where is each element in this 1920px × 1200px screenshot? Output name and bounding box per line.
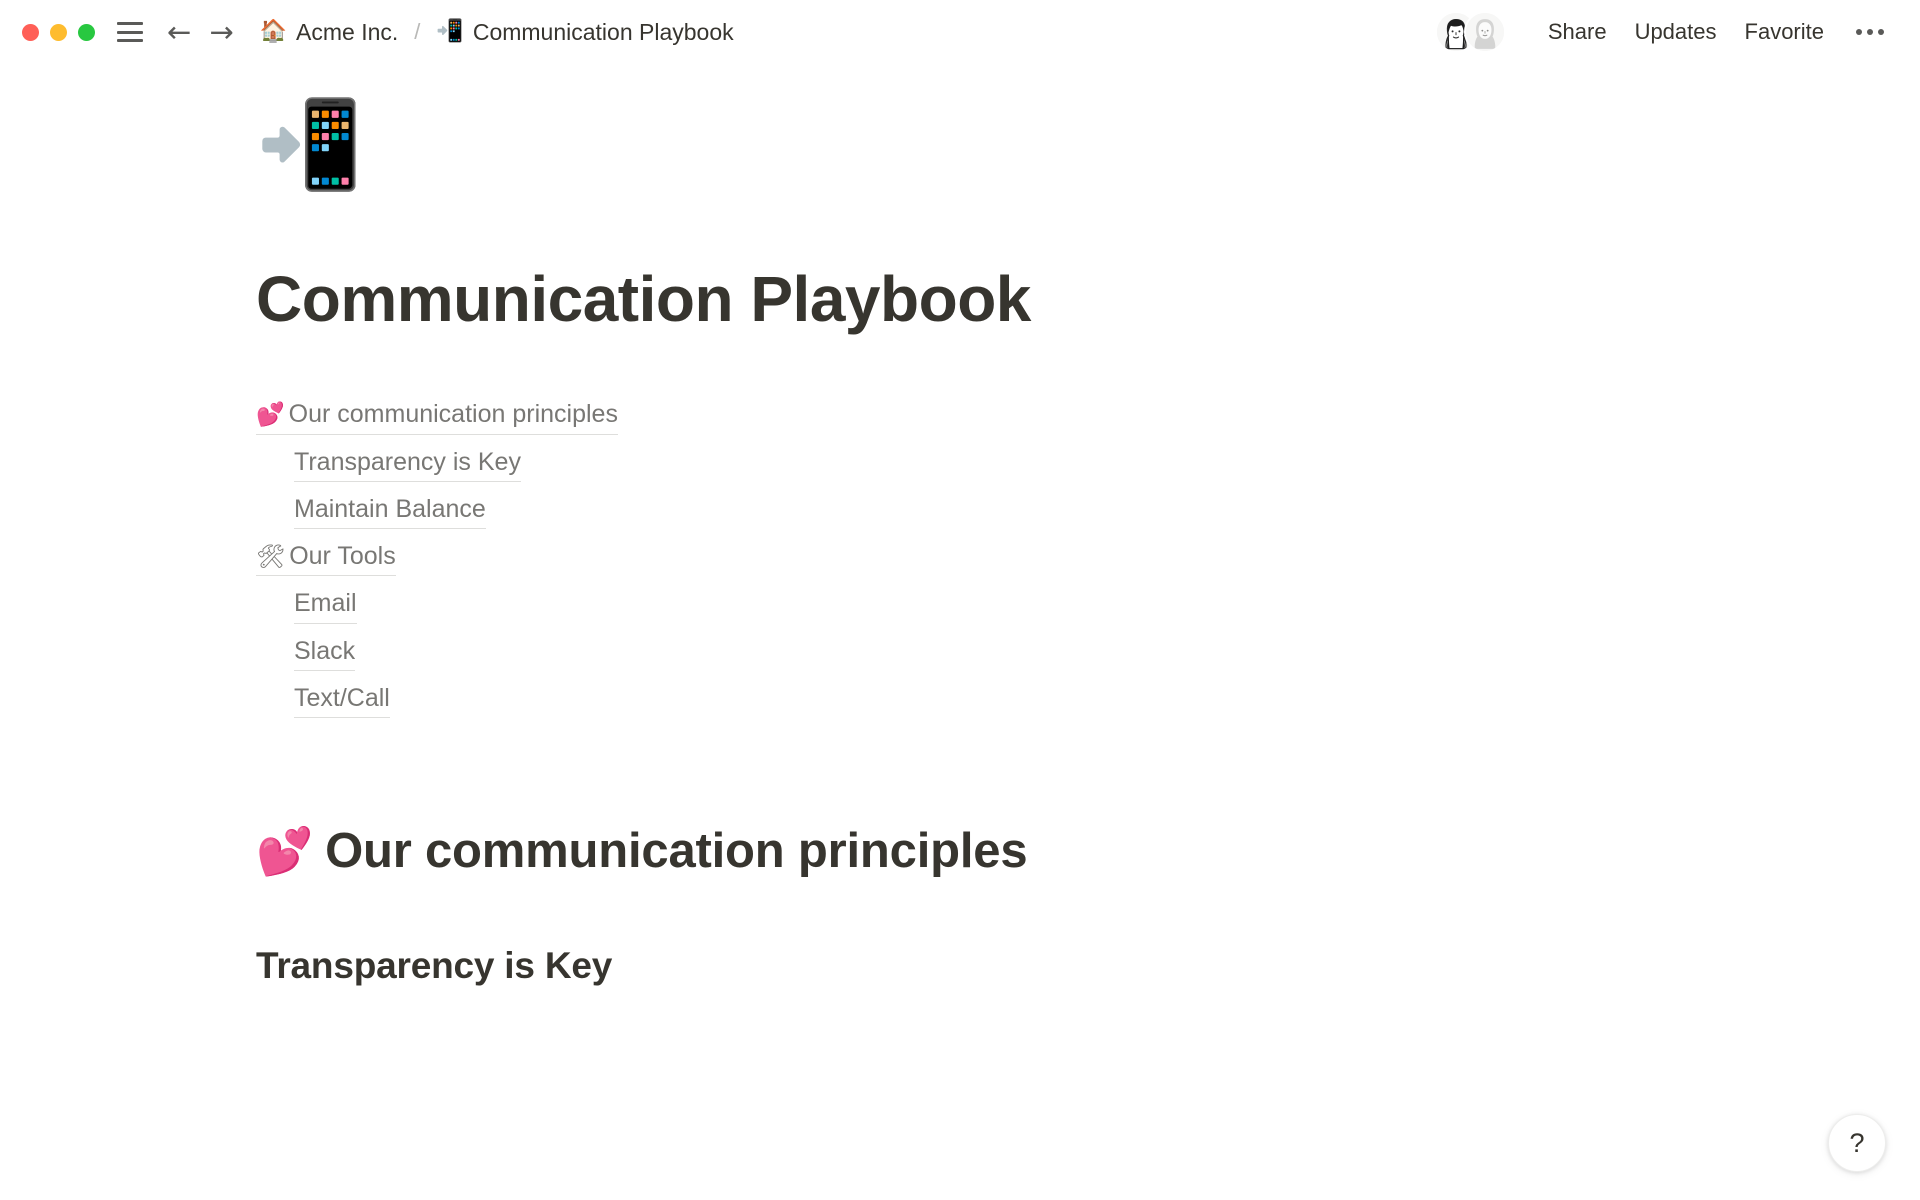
- window-controls: [22, 24, 95, 41]
- toc-label: Transparency is Key: [294, 448, 521, 476]
- breadcrumb: 🏠 Acme Inc. / 📲 Communication Playbook: [256, 17, 738, 48]
- page-title[interactable]: Communication Playbook: [256, 264, 1656, 334]
- breadcrumb-label-workspace: Acme Inc.: [296, 19, 398, 46]
- avatar[interactable]: [1464, 11, 1506, 53]
- breadcrumb-item-page[interactable]: 📲 Communication Playbook: [432, 17, 737, 48]
- toc-link-our-tools[interactable]: 🛠Our Tools: [256, 534, 396, 581]
- two-hearts-icon: 💕: [256, 402, 285, 428]
- hammer-and-wrench-icon: 🛠: [256, 544, 285, 570]
- favorite-button[interactable]: Favorite: [1731, 12, 1838, 52]
- forward-arrow-icon[interactable]: →: [209, 18, 233, 47]
- updates-button[interactable]: Updates: [1621, 12, 1731, 52]
- heading-text: Our communication principles: [325, 824, 1027, 878]
- toc-link-slack[interactable]: Slack: [294, 629, 355, 676]
- more-options-icon[interactable]: [1838, 19, 1896, 45]
- toc-link-transparency-is-key[interactable]: Transparency is Key: [294, 440, 521, 487]
- toc-link-email[interactable]: Email: [294, 581, 357, 628]
- toc-label: Email: [294, 589, 357, 617]
- toc-link-our-communication-principles[interactable]: 💕Our communication principles: [256, 392, 618, 439]
- heading-text: Transparency is Key: [256, 945, 612, 986]
- back-arrow-icon[interactable]: ←: [167, 18, 191, 47]
- page-icon-mobile-phone-with-arrow[interactable]: 📲: [256, 102, 1656, 212]
- table-of-contents: 💕Our communication principles Transparen…: [256, 392, 1656, 723]
- toc-label: Slack: [294, 637, 355, 665]
- content-column: 📲 Communication Playbook 💕Our communicat…: [256, 64, 1656, 987]
- toc-label: Text/Call: [294, 684, 390, 712]
- toc-label: Our Tools: [289, 542, 396, 570]
- toc-label: Our communication principles: [289, 400, 618, 428]
- mobile-phone-with-arrow-icon: 📲: [436, 21, 463, 43]
- breadcrumb-label-page: Communication Playbook: [473, 19, 734, 46]
- window-close-button[interactable]: [22, 24, 39, 41]
- share-button[interactable]: Share: [1534, 12, 1621, 52]
- window-minimize-button[interactable]: [50, 24, 67, 41]
- avatar-stack[interactable]: [1435, 11, 1506, 53]
- topbar: ← → 🏠 Acme Inc. / 📲 Communication Playbo…: [0, 0, 1920, 64]
- help-button[interactable]: ?: [1828, 1114, 1886, 1172]
- heading-our-communication-principles[interactable]: 💕Our communication principles: [256, 823, 1656, 879]
- toc-link-text-call[interactable]: Text/Call: [294, 676, 390, 723]
- heading-transparency-is-key[interactable]: Transparency is Key: [256, 945, 1656, 987]
- toc-label: Maintain Balance: [294, 495, 486, 523]
- app-window: ← → 🏠 Acme Inc. / 📲 Communication Playbo…: [0, 0, 1920, 1200]
- topbar-actions: Share Updates Favorite: [1435, 11, 1896, 53]
- toc-link-maintain-balance[interactable]: Maintain Balance: [294, 487, 486, 534]
- two-hearts-icon: 💕: [256, 824, 313, 878]
- house-icon: 🏠: [260, 21, 287, 43]
- breadcrumb-separator: /: [414, 19, 420, 45]
- breadcrumb-item-workspace[interactable]: 🏠 Acme Inc.: [256, 17, 403, 48]
- page-body: 📲 Communication Playbook 💕Our communicat…: [0, 64, 1920, 1200]
- hamburger-icon[interactable]: [117, 22, 143, 42]
- window-maximize-button[interactable]: [78, 24, 95, 41]
